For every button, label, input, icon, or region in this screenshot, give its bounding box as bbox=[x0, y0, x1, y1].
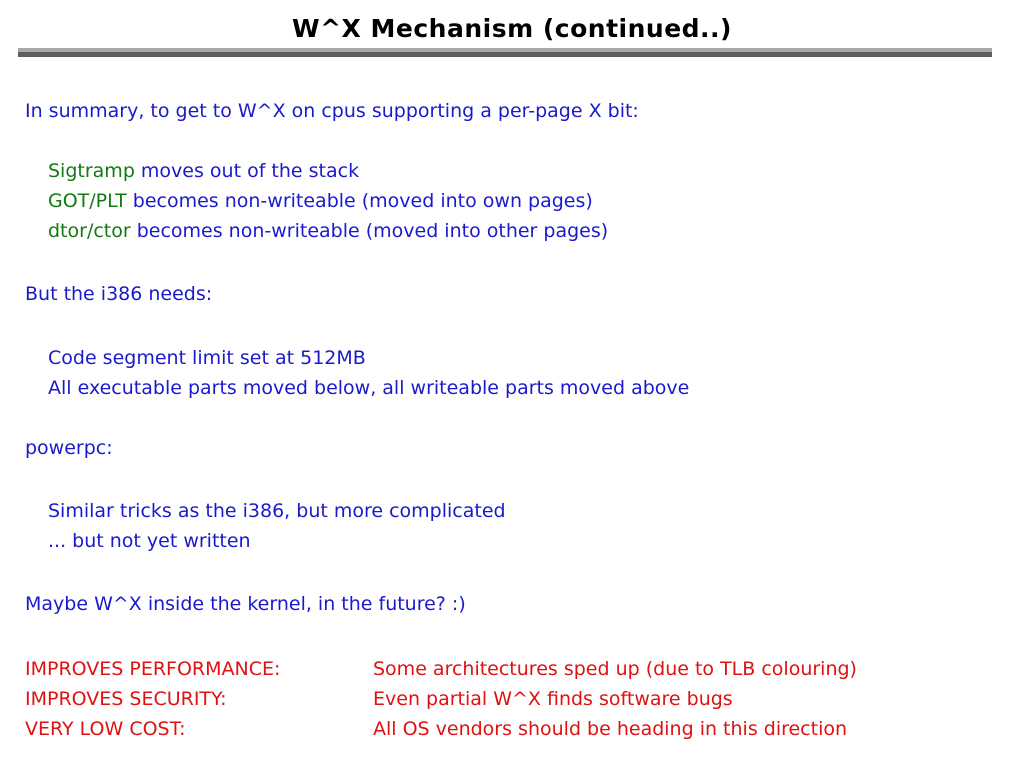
powerpc-heading: powerpc: bbox=[25, 437, 113, 459]
bullet-keyword: Sigtramp bbox=[48, 160, 135, 182]
i386-item-executable-parts: All executable parts moved below, all wr… bbox=[48, 377, 689, 399]
summary-row-security: IMPROVES SECURITY:Even partial W^X finds… bbox=[25, 688, 985, 710]
summary-description: Even partial W^X finds software bugs bbox=[373, 688, 733, 710]
bullet-dtor-ctor: dtor/ctor becomes non-writeable (moved i… bbox=[48, 220, 608, 242]
summary-description: Some architectures sped up (due to TLB c… bbox=[373, 658, 857, 680]
summary-row-performance: IMPROVES PERFORMANCE:Some architectures … bbox=[25, 658, 985, 680]
summary-row-cost: VERY LOW COST:All OS vendors should be h… bbox=[25, 718, 985, 740]
i386-heading: But the i386 needs: bbox=[25, 283, 212, 305]
powerpc-item-similar-tricks: Similar tricks as the i386, but more com… bbox=[48, 500, 506, 522]
summary-label: IMPROVES SECURITY: bbox=[25, 688, 373, 710]
bullet-sigtramp: Sigtramp moves out of the stack bbox=[48, 160, 359, 182]
slide-body: In summary, to get to W^X on cpus suppor… bbox=[0, 0, 1024, 768]
bullet-got-plt: GOT/PLT becomes non-writeable (moved int… bbox=[48, 190, 593, 212]
bullet-keyword: dtor/ctor bbox=[48, 220, 131, 242]
bullet-text: moves out of the stack bbox=[135, 160, 359, 182]
bullet-text: becomes non-writeable (moved into own pa… bbox=[127, 190, 593, 212]
powerpc-item-not-written: ... but not yet written bbox=[48, 530, 251, 552]
summary-label: IMPROVES PERFORMANCE: bbox=[25, 658, 373, 680]
bullet-keyword: GOT/PLT bbox=[48, 190, 127, 212]
summary-label: VERY LOW COST: bbox=[25, 718, 373, 740]
intro-text: In summary, to get to W^X on cpus suppor… bbox=[25, 100, 639, 122]
i386-item-code-segment: Code segment limit set at 512MB bbox=[48, 347, 366, 369]
bullet-text: becomes non-writeable (moved into other … bbox=[131, 220, 608, 242]
summary-description: All OS vendors should be heading in this… bbox=[373, 718, 847, 740]
kernel-future-note: Maybe W^X inside the kernel, in the futu… bbox=[25, 593, 466, 615]
